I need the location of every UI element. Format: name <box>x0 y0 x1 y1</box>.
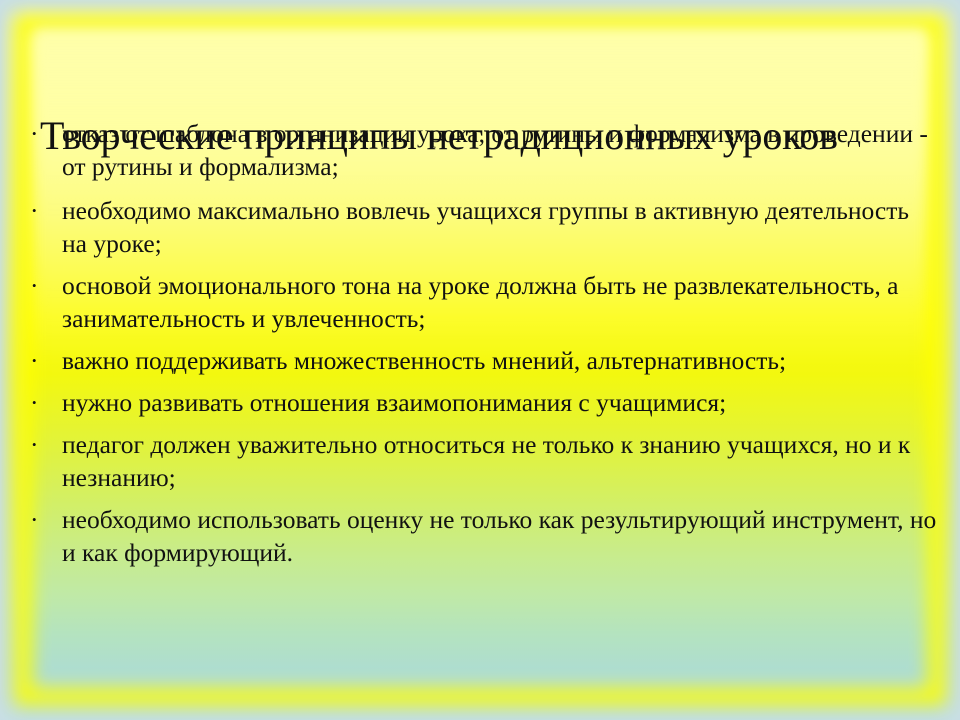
list-item-text: важно поддерживать множественность мнени… <box>62 344 937 377</box>
list-item-text: необходимо использовать оценку не только… <box>62 503 937 569</box>
list-item: · основой эмоционального тона на уроке д… <box>22 269 937 335</box>
list-item-text: необходимо максимально вовлечь учащихся … <box>62 194 937 260</box>
bullet-dot-icon: · <box>30 386 39 419</box>
presentation-slide: Творческие принципы нетрадиционных уроко… <box>0 0 960 720</box>
list-item-text: основой эмоционального тона на уроке дол… <box>62 269 937 335</box>
slide-content: Творческие принципы нетрадиционных уроко… <box>0 0 960 720</box>
bullet-dot-icon: · <box>30 269 39 302</box>
list-item: · педагог должен уважительно относиться … <box>22 428 937 494</box>
bullet-dot-icon: · <box>30 117 39 150</box>
bullet-dot-icon: · <box>30 344 39 377</box>
page-title: Творческие принципы нетрадиционных уроко… <box>40 113 930 159</box>
list-item: · важно поддерживать множественность мне… <box>22 344 937 377</box>
list-item-text: нужно развивать отношения взаимопонимани… <box>62 386 937 419</box>
list-item-text: педагог должен уважительно относиться не… <box>62 428 937 494</box>
bullet-list: · отказ от шаблона в организации урока, … <box>22 117 937 578</box>
bullet-dot-icon: · <box>30 503 39 536</box>
bullet-dot-icon: · <box>30 428 39 461</box>
list-item: · необходимо использовать оценку не толь… <box>22 503 937 569</box>
list-item: · необходимо максимально вовлечь учащихс… <box>22 194 937 260</box>
bullet-dot-icon: · <box>30 194 39 227</box>
list-item: · нужно развивать отношения взаимопонима… <box>22 386 937 419</box>
